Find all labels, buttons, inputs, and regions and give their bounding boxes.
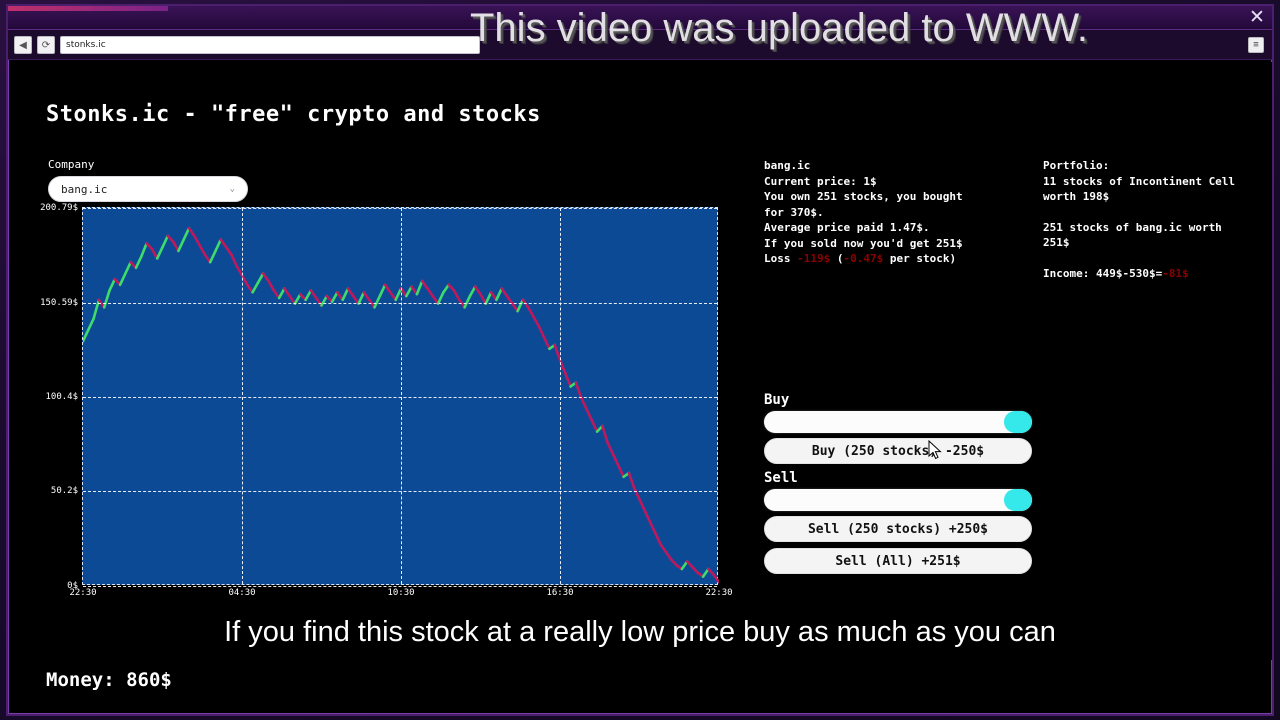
portfolio-spacer-1 (1043, 205, 1272, 220)
sell-amount-slider[interactable] (764, 489, 1032, 511)
browser-toolbar: ◀ ⟳ stonks.ic ≡ (8, 30, 1272, 60)
income-label: Income: 449$-530$= (1043, 267, 1162, 280)
chart-gridline-horizontal (83, 586, 717, 587)
chart-gridline-horizontal (83, 303, 717, 304)
chart-y-tick: 200.79$ (40, 203, 78, 213)
page-content: Stonks.ic - "free" crypto and stocks Com… (10, 62, 1272, 660)
chart-gridline-horizontal (83, 208, 717, 209)
portfolio-line-4: 251$ (1043, 235, 1272, 251)
chart-x-tick: 16:30 (546, 588, 573, 598)
stock-info-panel: bang.ic Current price: 1$ You own 251 st… (764, 158, 1034, 267)
company-label: Company (48, 158, 94, 171)
desktop-background: ✕ ◀ ⟳ stonks.ic ≡ Stonks.ic - "free" cry… (0, 0, 1280, 720)
chart-gridline-vertical (242, 208, 243, 584)
income-value: -81$ (1162, 267, 1189, 280)
portfolio-income-line: Income: 449$-530$=-81$ (1043, 266, 1272, 282)
chart-y-tick: 150.59$ (40, 298, 78, 308)
sell-slider-knob[interactable] (1004, 489, 1032, 511)
stock-average-price: Average price paid 1.47$. (764, 220, 1034, 236)
stock-owned-line-2: for 370$. (764, 205, 1034, 221)
portfolio-line-1: 11 stocks of Incontinent Cell (1043, 174, 1272, 190)
stock-sell-now: If you sold now you'd get 251$ (764, 236, 1034, 252)
sell-heading: Sell (764, 470, 1032, 486)
reload-button-icon[interactable]: ⟳ (37, 36, 55, 54)
buy-button[interactable]: Buy (250 stocks) -250$ (764, 438, 1032, 464)
portfolio-panel: Portfolio: 11 stocks of Incontinent Cell… (1043, 158, 1272, 281)
chart-y-tick: 100.4$ (45, 392, 78, 402)
loss-label: Loss (764, 252, 791, 265)
chart-plot-area: 200.79$150.59$100.4$50.2$0$22:3004:3010:… (82, 207, 718, 585)
sell-button[interactable]: Sell (250 stocks) +250$ (764, 516, 1032, 542)
video-subtitle: If you find this stock at a really low p… (0, 616, 1280, 649)
title-bar-accent (8, 6, 168, 11)
chart-y-tick: 50.2$ (51, 486, 78, 496)
loss-suffix: per stock) (890, 252, 956, 265)
loss-paren-open: ( (837, 252, 844, 265)
stock-name: bang.ic (764, 158, 1034, 174)
window-title-bar: ✕ (8, 6, 1272, 30)
buy-heading: Buy (764, 392, 1032, 408)
stock-owned-line-1: You own 251 stocks, you bought (764, 189, 1034, 205)
loss-per-stock: -0.47$ (844, 252, 884, 265)
chart-gridline-vertical (560, 208, 561, 584)
back-button-icon[interactable]: ◀ (14, 36, 32, 54)
company-select[interactable]: bang.ic ⌄ (48, 176, 248, 202)
chart-x-tick: 22:30 (69, 588, 96, 598)
chart-x-tick: 10:30 (387, 588, 414, 598)
buy-amount-slider[interactable] (764, 411, 1032, 433)
portfolio-line-2: worth 198$ (1043, 189, 1272, 205)
chart-x-tick: 22:30 (705, 588, 732, 598)
stock-current-price: Current price: 1$ (764, 174, 1034, 190)
menu-icon[interactable]: ≡ (1248, 37, 1264, 53)
money-display: Money: 860$ (46, 669, 172, 691)
close-icon[interactable]: ✕ (1246, 7, 1268, 29)
portfolio-line-3: 251 stocks of bang.ic worth (1043, 220, 1272, 236)
url-input[interactable]: stonks.ic (60, 36, 480, 54)
browser-window: ✕ ◀ ⟳ stonks.ic ≡ Stonks.ic - "free" cry… (6, 4, 1274, 716)
chart-x-tick: 04:30 (228, 588, 255, 598)
price-chart: 200.79$150.59$100.4$50.2$0$22:3004:3010:… (48, 202, 754, 600)
sell-all-button[interactable]: Sell (All) +251$ (764, 548, 1032, 574)
stock-loss-line: Loss -119$ (-0.47$ per stock) (764, 251, 1034, 267)
portfolio-heading: Portfolio: (1043, 158, 1272, 174)
chart-gridline-vertical (401, 208, 402, 584)
chart-gridline-horizontal (83, 397, 717, 398)
buy-slider-knob[interactable] (1004, 411, 1032, 433)
company-selected-value: bang.ic (61, 183, 230, 196)
loss-total: -119$ (797, 252, 830, 265)
chart-gridline-horizontal (83, 491, 717, 492)
page-title: Stonks.ic - "free" crypto and stocks (46, 102, 541, 127)
chevron-down-icon: ⌄ (230, 184, 235, 194)
trade-panel: Buy Buy (250 stocks) -250$ Sell Sell (25… (764, 392, 1032, 580)
portfolio-spacer-2 (1043, 251, 1272, 266)
